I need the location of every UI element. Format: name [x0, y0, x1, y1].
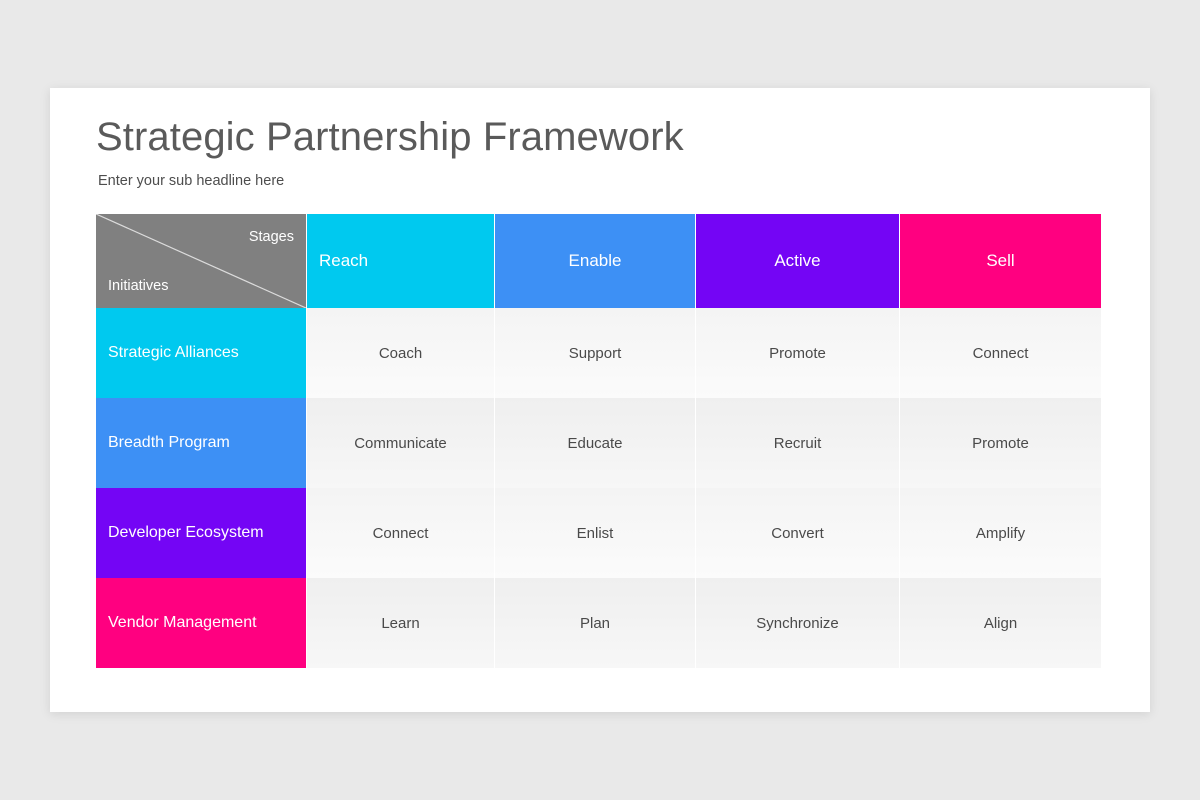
- table-cell[interactable]: Align: [900, 578, 1101, 668]
- table-cell[interactable]: Connect: [900, 308, 1101, 398]
- page-title: Strategic Partnership Framework: [96, 115, 684, 160]
- row-header-strategic-alliances[interactable]: Strategic Alliances: [96, 308, 306, 398]
- matrix-corner-cell: Stages Initiatives: [96, 214, 306, 308]
- table-cell[interactable]: Promote: [900, 398, 1101, 488]
- row-header-breadth-program[interactable]: Breadth Program: [96, 398, 306, 488]
- column-separator: [695, 308, 696, 668]
- column-separator: [494, 308, 495, 668]
- table-cell[interactable]: Coach: [307, 308, 494, 398]
- table-cell[interactable]: Convert: [696, 488, 899, 578]
- table-cell[interactable]: Educate: [495, 398, 695, 488]
- column-header-sell[interactable]: Sell: [900, 214, 1101, 308]
- column-separator: [899, 308, 900, 668]
- table-cell[interactable]: Connect: [307, 488, 494, 578]
- table-cell[interactable]: Promote: [696, 308, 899, 398]
- column-header-active[interactable]: Active: [696, 214, 899, 308]
- table-cell[interactable]: Recruit: [696, 398, 899, 488]
- slide-card: Strategic Partnership Framework Enter yo…: [50, 88, 1150, 712]
- row-header-vendor-management[interactable]: Vendor Management: [96, 578, 306, 668]
- table-cell[interactable]: Plan: [495, 578, 695, 668]
- table-cell[interactable]: Enlist: [495, 488, 695, 578]
- column-header-reach[interactable]: Reach: [307, 214, 494, 308]
- corner-label-stages: Stages: [249, 229, 294, 245]
- table-cell[interactable]: Communicate: [307, 398, 494, 488]
- table-cell[interactable]: Support: [495, 308, 695, 398]
- row-header-developer-ecosystem[interactable]: Developer Ecosystem: [96, 488, 306, 578]
- table-cell[interactable]: Amplify: [900, 488, 1101, 578]
- corner-label-initiatives: Initiatives: [108, 278, 168, 294]
- column-header-enable[interactable]: Enable: [495, 214, 695, 308]
- partnership-matrix: Stages Initiatives Reach Enable Active S…: [96, 214, 1101, 664]
- page-subtitle: Enter your sub headline here: [98, 173, 284, 189]
- table-cell[interactable]: Synchronize: [696, 578, 899, 668]
- table-cell[interactable]: Learn: [307, 578, 494, 668]
